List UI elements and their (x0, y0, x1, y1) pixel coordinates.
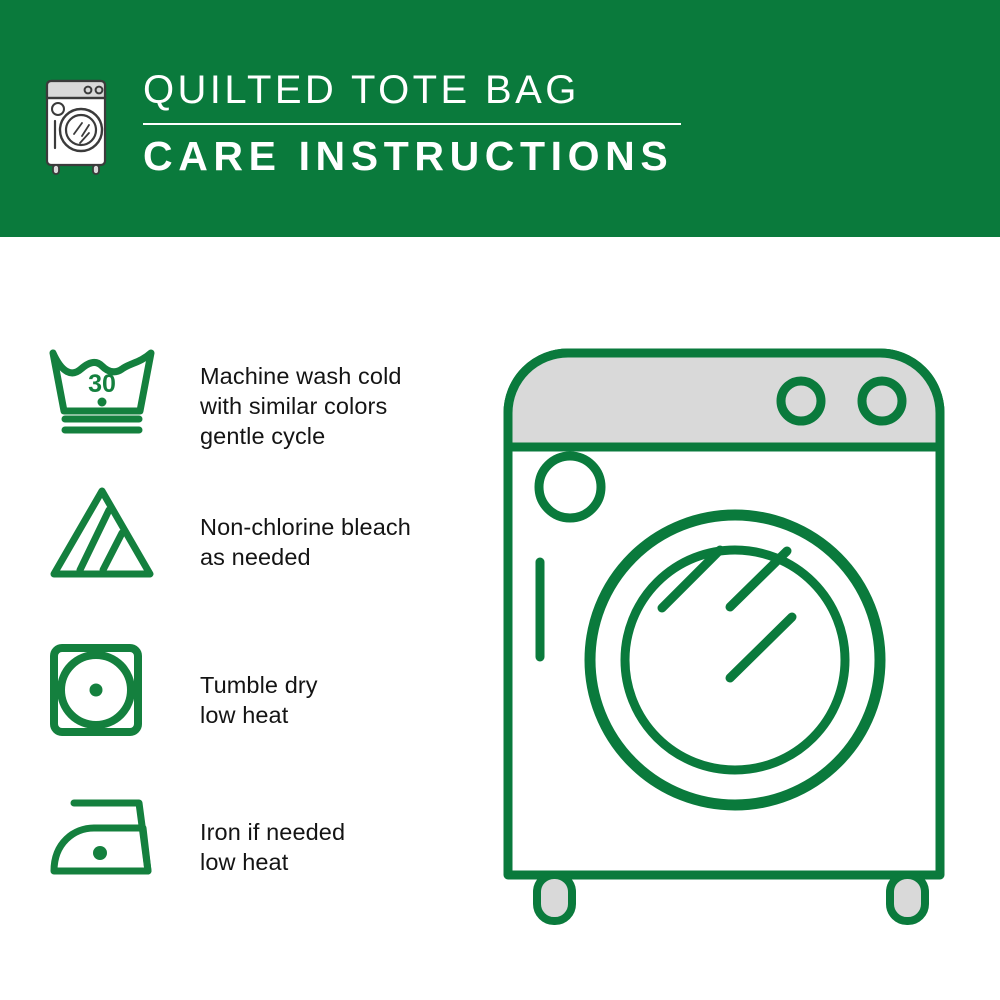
product-title: QUILTED TOTE BAG (143, 66, 703, 114)
tumble-dry-icon (48, 642, 144, 743)
iron-icon (48, 795, 158, 884)
care-item-label: Machine wash cold with similar colors ge… (200, 361, 402, 451)
header-title-block: QUILTED TOTE BAG CARE INSTRUCTIONS (143, 66, 703, 180)
control-knob-left (781, 381, 821, 421)
machine-door-inner (625, 550, 845, 770)
care-instruction-list: 30 Machine wash cold with similar colors… (0, 237, 480, 1000)
care-item-label: Iron if needed low heat (200, 817, 345, 877)
washing-machine-illustration (490, 335, 970, 925)
indicator-dial (539, 456, 601, 518)
machine-foot-left (537, 875, 572, 921)
machine-foot-right (890, 875, 925, 921)
care-instructions-page: QUILTED TOTE BAG CARE INSTRUCTIONS 30 (0, 0, 1000, 1000)
page-title: CARE INSTRUCTIONS (143, 132, 703, 180)
header-band: QUILTED TOTE BAG CARE INSTRUCTIONS (0, 0, 1000, 237)
wash-tub-icon: 30 (48, 347, 156, 440)
control-knob-right (862, 381, 902, 421)
care-item-label: Non-chlorine bleach as needed (200, 512, 411, 572)
washing-machine-icon (44, 72, 108, 176)
title-divider (143, 123, 681, 125)
bleach-triangle-icon (48, 485, 156, 586)
wash-temperature-label: 30 (88, 370, 116, 398)
care-item-label: Tumble dry low heat (200, 670, 318, 730)
